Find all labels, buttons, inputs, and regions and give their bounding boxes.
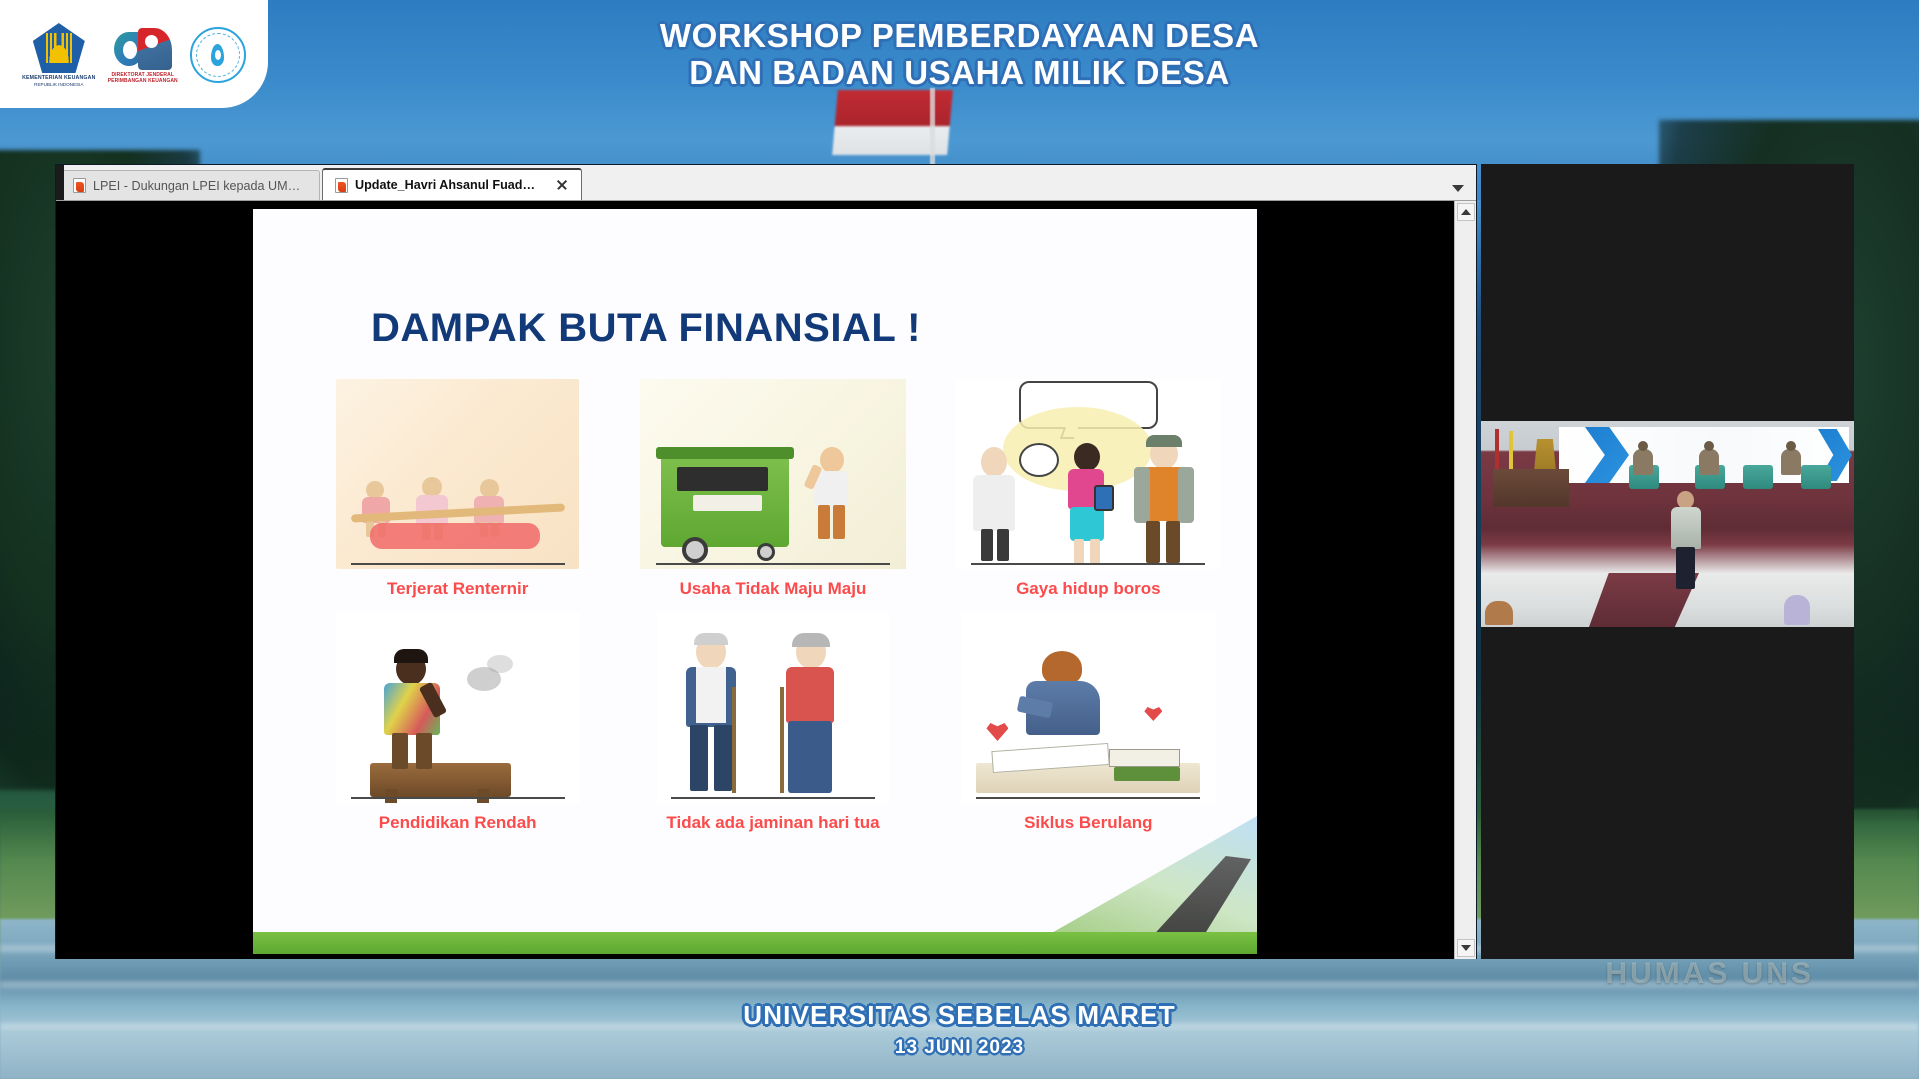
illustration-wasteful-lifestyle: [944, 369, 1233, 569]
chevron-down-icon[interactable]: [1452, 185, 1464, 192]
scroll-down-button[interactable]: [1457, 939, 1475, 957]
slide-item: Usaha Tidak Maju Maju: [628, 369, 917, 599]
illustration-stagnant-business: [628, 369, 917, 569]
illustration-repeating-cycle: [944, 603, 1233, 803]
uns-emblem-icon: [190, 27, 246, 83]
slide-title: DAMPAK BUTA FINANSIAL !: [371, 306, 921, 351]
slide-item-caption: Gaya hidup boros: [1016, 579, 1161, 599]
audience-member: [1784, 595, 1810, 625]
institution-logo-bar: KEMENTERIAN KEUANGAN REPUBLIK INDONESIA …: [0, 0, 268, 108]
tab-label: Update_Havri Ahsanul Fuad_Manajem...: [355, 178, 540, 192]
slide-item: Gaya hidup boros: [944, 369, 1233, 599]
standing-speaker: [1667, 491, 1703, 587]
scrollbar-track[interactable]: [1455, 221, 1476, 939]
djpk-monogram-icon: [112, 26, 174, 72]
pentagon-shield-icon: [33, 23, 85, 73]
slide-item: Tidak ada jaminan hari tua: [628, 603, 917, 833]
footer-venue: UNIVERSITAS SEBELAS MARET: [0, 1000, 1919, 1031]
slide-item: Pendidikan Rendah: [313, 603, 602, 833]
slide-item-grid: Terjerat Renternir: [313, 369, 1233, 833]
humas-uns-watermark: HUMAS UNS: [1605, 957, 1814, 991]
tab-label: LPEI - Dukungan LPEI kepada UMKM ...: [93, 179, 307, 193]
illustration-no-pension: [628, 603, 917, 803]
document-viewer: DAMPAK BUTA FINANSIAL !: [56, 201, 1476, 959]
seated-panelist: [1699, 449, 1719, 475]
speaker-camera-feed[interactable]: [1481, 421, 1854, 627]
djpk-logo: DIREKTORAT JENDERAL PERIMBANGAN KEUANGAN: [108, 26, 178, 85]
document-tabbar: LPEI - Dukungan LPEI kepada UMKM ... Upd…: [56, 165, 1476, 201]
stage-desk: [1493, 469, 1569, 507]
pdf-file-icon: [335, 178, 348, 193]
garuda-wing-icon: [42, 33, 76, 63]
stage-chair: [1801, 465, 1831, 489]
scroll-up-button[interactable]: [1457, 203, 1475, 221]
close-icon[interactable]: [555, 178, 569, 192]
stage-chair: [1743, 465, 1773, 489]
kemenkeu-caption-line1: KEMENTERIAN KEUANGAN: [22, 75, 95, 82]
tab-update-havri-ahsanul-fuad[interactable]: Update_Havri Ahsanul Fuad_Manajem...: [322, 168, 582, 200]
illustration-debt-trap: [313, 369, 602, 569]
slide-item-caption: Usaha Tidak Maju Maju: [680, 579, 867, 599]
audience-member: [1485, 601, 1513, 625]
seated-panelist: [1633, 449, 1653, 475]
slide-item-caption: Pendidikan Rendah: [379, 813, 537, 833]
shared-screen-window: LPEI - Dukungan LPEI kepada UMKM ... Upd…: [55, 164, 1477, 959]
uns-logo: [190, 27, 246, 83]
slide-item-caption: Terjerat Renternir: [387, 579, 528, 599]
kemenkeu-caption-line2: REPUBLIK INDONESIA: [34, 82, 83, 87]
triangle-down-icon: [1461, 945, 1471, 951]
slide-item: Siklus Berulang: [944, 603, 1233, 833]
kementerian-keuangan-logo: KEMENTERIAN KEUANGAN REPUBLIK INDONESIA: [22, 23, 95, 87]
triangle-up-icon: [1461, 209, 1471, 215]
event-footer: UNIVERSITAS SEBELAS MARET 13 JUNI 2023: [0, 1000, 1919, 1059]
slide-item-caption: Tidak ada jaminan hari tua: [666, 813, 879, 833]
participant-video-panel[interactable]: [1481, 164, 1854, 959]
slide-item-caption: Siklus Berulang: [1024, 813, 1152, 833]
seated-panelist: [1781, 449, 1801, 475]
pdf-file-icon: [73, 178, 86, 193]
presentation-slide: DAMPAK BUTA FINANSIAL !: [253, 209, 1257, 954]
footer-date: 13 JUNI 2023: [0, 1037, 1919, 1059]
djpk-caption-line2: PERIMBANGAN KEUANGAN: [108, 78, 178, 85]
uns-flame-icon: [211, 44, 224, 66]
document-scrollbar[interactable]: [1454, 201, 1476, 959]
slide-bottom-green-band: [253, 932, 1257, 954]
tab-lpei-dukungan-umkm[interactable]: LPEI - Dukungan LPEI kepada UMKM ...: [60, 170, 320, 200]
document-canvas[interactable]: DAMPAK BUTA FINANSIAL !: [56, 201, 1454, 959]
illustration-low-education: [313, 603, 602, 803]
slide-item: Terjerat Renternir: [313, 369, 602, 599]
